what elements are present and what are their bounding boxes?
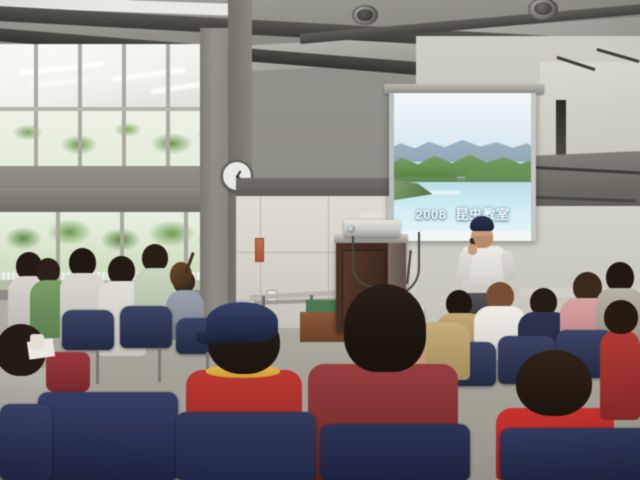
slide-image: 2008昆虫教室	[394, 103, 531, 231]
red-bag	[46, 352, 90, 392]
foreground-person-right-edge	[600, 300, 640, 420]
chair	[120, 306, 172, 348]
chair-foreground	[38, 392, 178, 480]
chair-foreground	[320, 424, 470, 480]
right-wall-panel	[540, 62, 640, 154]
window-upper	[0, 44, 232, 166]
paper-cup	[30, 334, 44, 350]
chair-foreground	[500, 428, 640, 480]
ceiling-speaker-icon	[352, 5, 378, 25]
chair-leg	[158, 348, 161, 382]
chair-foreground	[176, 412, 316, 480]
slide-year: 2008	[416, 207, 447, 222]
chair-foreground	[0, 404, 52, 480]
chair-leg	[96, 350, 99, 384]
wall-sign	[255, 238, 264, 262]
presenter-hand	[468, 244, 477, 255]
wall-speaker-slot	[556, 100, 566, 156]
presenter-cap	[470, 216, 494, 231]
projector-lens-icon	[347, 225, 355, 233]
lecture-hall-photo: 2008昆虫教室	[0, 0, 640, 480]
